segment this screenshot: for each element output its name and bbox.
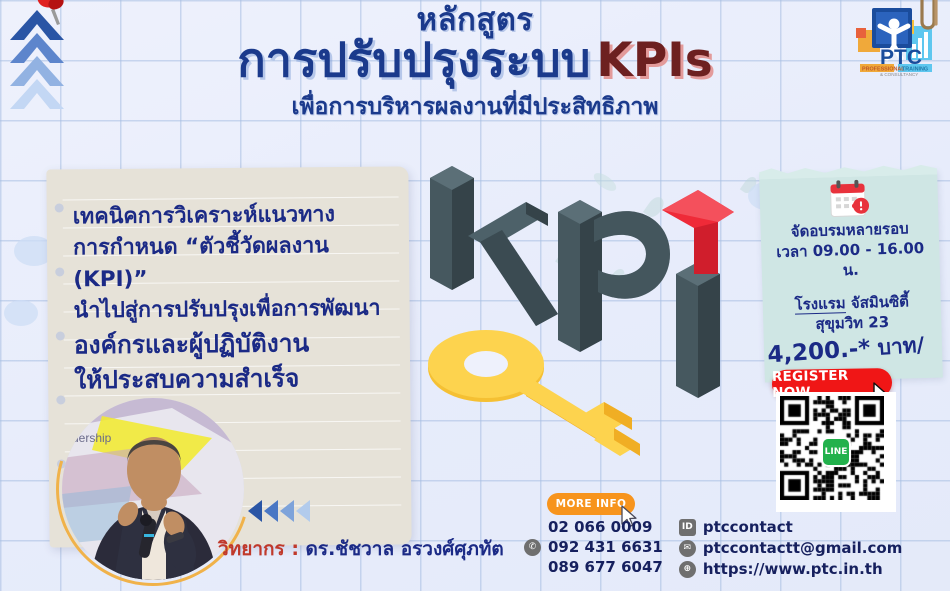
description-line-3: นำไปสู่การปรับปรุงเพื่อการพัฒนา — [73, 293, 395, 327]
phone-number: 092 431 6631 — [548, 538, 663, 556]
page-title: การปรับปรุงระบบKPIs — [0, 35, 950, 88]
line-brand-badge: LINE — [821, 437, 851, 467]
description-line-2: การกำหนด “ตัวชี้วัดผลงาน (KPI)” — [73, 230, 396, 296]
chevron-left-decoration — [246, 498, 316, 524]
globe-icon: ⊕ — [679, 561, 696, 578]
description-line-5: ให้ประสบความสำเร็จ — [74, 360, 396, 399]
decor-leaf — [740, 174, 759, 195]
up-arrow-icon — [662, 190, 734, 274]
schedule-text: จัดอบรมหลายรอบ เวลา 09.00 - 16.00 น. โรง… — [766, 218, 935, 336]
email-row[interactable]: ✉ ptccontactt@gmail.com — [679, 539, 903, 557]
description-line-4: องค์กรและผู้ปฏิบัติงาน — [74, 324, 396, 363]
line-id-icon: ID — [679, 519, 696, 536]
description-text: เทคนิคการวิเคราะห์แนวทาง การกำหนด “ตัวชี… — [73, 199, 397, 399]
avatar: dership — [62, 398, 244, 580]
speaker-name: ดร.ชัชวาล อรวงศ์ศุภทัต — [306, 538, 504, 560]
key-icon — [428, 330, 640, 456]
email-icon: ✉ — [679, 540, 696, 557]
phone-number: 089 677 6047 — [548, 558, 663, 576]
kpi-3d-artwork — [408, 150, 738, 480]
website-value: https://www.ptc.in.th — [703, 560, 883, 578]
phone-number: 02 066 0009 — [548, 518, 663, 536]
phone-list: 02 066 0009 092 431 6631 089 677 6047 — [548, 518, 663, 576]
website-row[interactable]: ⊕ https://www.ptc.in.th — [679, 560, 903, 578]
line-id-row[interactable]: ID ptccontact — [679, 518, 903, 536]
description-line-1: เทคนิคการวิเคราะห์แนวทาง — [73, 199, 395, 233]
calendar-icon — [825, 177, 872, 220]
venue-label: โรงแรม — [794, 294, 846, 314]
title-main-text: การปรับปรุงระบบ — [237, 33, 590, 88]
phone-icon: ✆ — [524, 539, 541, 556]
email-value: ptccontactt@gmail.com — [703, 539, 903, 557]
letter-i — [676, 262, 720, 398]
letter-p — [558, 200, 670, 352]
speaker-credit: วิทยากร : ดร.ชัชวาล อรวงศ์ศุภทัต — [218, 534, 504, 564]
phone-row: ✆ 02 066 0009 092 431 6631 089 677 6047 — [524, 518, 663, 576]
poster-header: หลักสูตร การปรับปรุงระบบKPIs เพื่อการบริ… — [0, 4, 950, 125]
speaker-role-label: วิทยากร : — [218, 538, 299, 560]
online-column: ID ptccontact ✉ ptccontactt@gmail.com ⊕ … — [679, 518, 903, 578]
poster-canvas: หลักสูตร การปรับปรุงระบบKPIs เพื่อการบริ… — [0, 0, 950, 591]
pushpin-icon — [30, 0, 74, 30]
paperclip-icon — [912, 0, 942, 36]
contact-block: ✆ 02 066 0009 092 431 6631 089 677 6047 … — [524, 518, 902, 578]
phone-column: ✆ 02 066 0009 092 431 6631 089 677 6047 — [524, 518, 663, 578]
header-subtitle: เพื่อการบริหารผลงานที่มีประสิทธิภาพ — [0, 89, 950, 125]
price-number: 4,200.-* — [767, 335, 872, 368]
schedule-time: เวลา 09.00 - 16.00 น. — [767, 238, 934, 283]
line-qr-code[interactable]: LINE — [776, 392, 896, 512]
svg-text:& CONSULTANCY: & CONSULTANCY — [880, 72, 918, 76]
decor-blob — [4, 300, 38, 326]
letter-k — [430, 166, 558, 326]
speaker-photo-frame: dership — [62, 398, 244, 580]
title-accent-kpis: KPIs — [596, 33, 712, 88]
line-id-value: ptccontact — [703, 518, 793, 536]
venue-name: จัสมินซิตี้ — [851, 293, 909, 313]
